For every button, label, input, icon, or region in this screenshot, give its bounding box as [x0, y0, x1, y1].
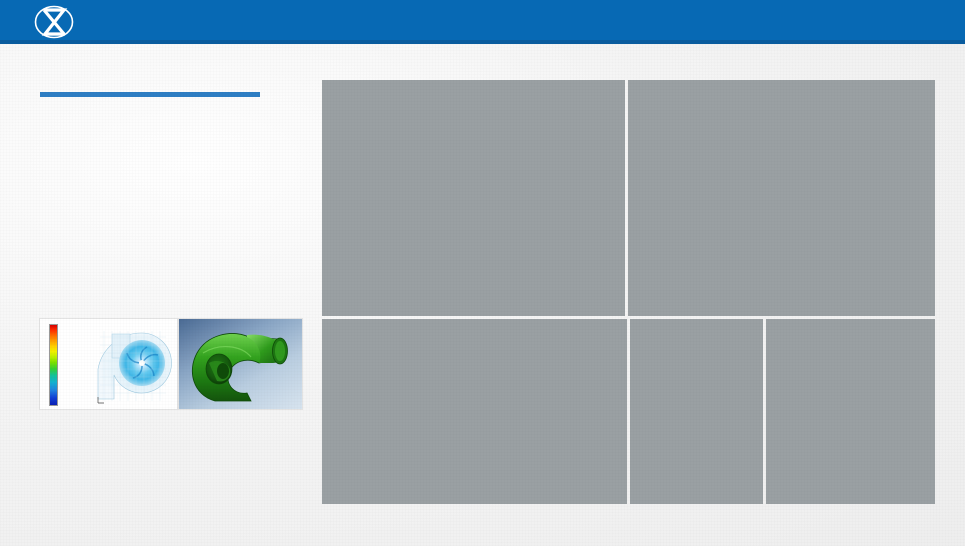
photo-gray-pump-assembly-in-workshop[interactable] — [322, 80, 625, 316]
kaiquan-hourglass-logo-icon — [34, 5, 74, 39]
cfd-contour-image — [39, 318, 178, 410]
photo-grid-row-top — [322, 80, 935, 316]
photo-row-of-gray-pump-casings-with-worker[interactable] — [322, 319, 627, 504]
page-header — [0, 0, 965, 44]
cfd-colorbar-legend — [49, 324, 58, 406]
page-title-block — [40, 84, 310, 97]
photo-red-impellers-with-worker[interactable] — [630, 319, 763, 504]
title-underline-rule — [40, 92, 260, 97]
cfd-volute-contour-plot — [92, 325, 174, 407]
photo-grid-row-bottom — [322, 319, 935, 504]
photo-large-unpainted-casing-with-worker[interactable] — [766, 319, 935, 504]
green-volute-3d-render — [185, 323, 298, 407]
photo-grid — [322, 80, 935, 504]
header-accent-bar — [0, 40, 965, 44]
volute-3d-model-image — [178, 318, 303, 410]
slide-canvas — [0, 0, 965, 546]
left-content-column — [0, 44, 322, 546]
company-logo[interactable] — [34, 4, 80, 40]
cfd-legend-ticks — [60, 323, 86, 407]
cfd-image-row — [39, 318, 303, 410]
photo-teal-cast-pump-casing[interactable] — [628, 80, 935, 316]
intro-paragraph — [40, 170, 312, 174]
